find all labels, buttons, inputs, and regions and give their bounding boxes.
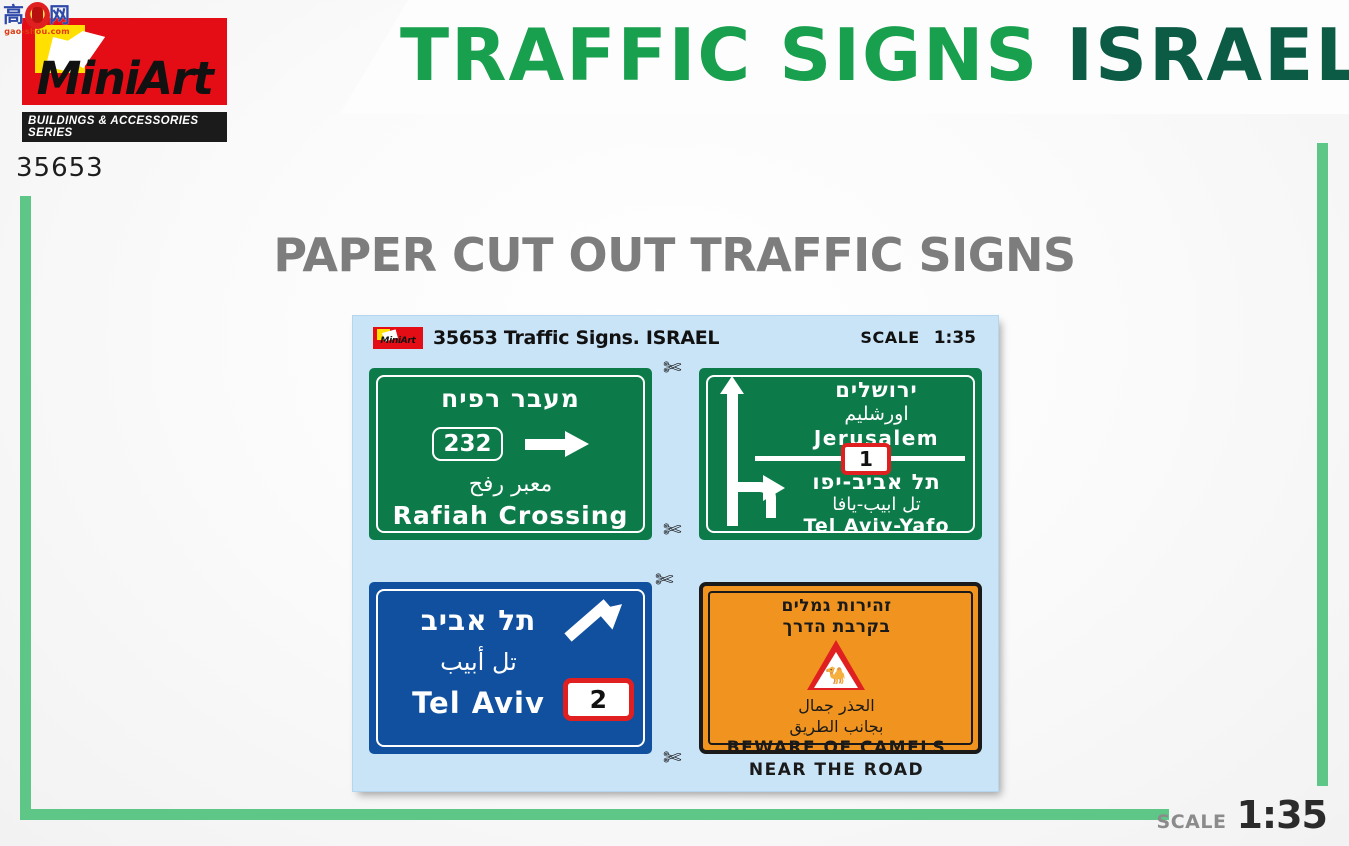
sign-jerusalem-hebrew: ירושלים: [779, 378, 974, 402]
sign-telaviv-english: Tel Aviv: [391, 686, 566, 720]
route-badge-232: 232: [432, 427, 502, 461]
sheet-scale-label: SCALE: [860, 328, 919, 347]
sign-jerusalem-arabic: اورشليم: [779, 403, 974, 425]
scissors-icon-2: ✄: [663, 520, 681, 542]
sign-sheet: MiniArt 35653 Traffic Signs. ISRAEL SCAL…: [352, 315, 999, 792]
bottom-scale-value: 1:35: [1236, 793, 1327, 837]
sheet-title: 35653 Traffic Signs. ISRAEL: [433, 327, 719, 349]
straight-up-arrow-head-icon: [720, 376, 744, 394]
sign-telaviv-hebrew: תל אביב: [391, 604, 566, 637]
sign-telavivyafo-hebrew: תל אביב-יפו: [779, 470, 974, 494]
kit-number: 35653: [16, 153, 104, 183]
sign-cell-jerusalem: ירושלים اورشليم Jerusalem 1 תל אביב-יפו …: [699, 368, 982, 540]
sign-rafiah-arabic: معبر رفح: [369, 472, 652, 497]
sign-telavivyafo-arabic: تل ابيب-يافا: [779, 494, 974, 515]
sign-beware-of-camels[interactable]: זהירות גמלים בקרבת הדרך 🐪 الحذر جمال بجا…: [699, 582, 982, 754]
watermark-char-left: 高: [3, 5, 24, 26]
header-title-signs: SIGNS: [779, 13, 1039, 97]
site-watermark: 高 网 gao-shou.com: [2, 1, 72, 41]
sign-camels-arabic-line2: بجانب الطريق: [703, 717, 970, 736]
sign-cell-telaviv: תל אביב تل أبيب Tel Aviv 2: [369, 582, 652, 754]
page-title: PAPER CUT OUT TRAFFIC SIGNS: [0, 228, 1349, 282]
sign-rafiah-route-row: 232: [369, 421, 652, 467]
camel-warning-triangle-icon: 🐪: [807, 640, 865, 690]
sign-rafiah-english: Rafiah Crossing: [369, 501, 652, 530]
frame-bar-left: [20, 196, 31, 820]
watermark-char-right: 网: [49, 5, 70, 26]
sign-telavivyafo-english: Tel Aviv-Yafo: [779, 515, 974, 537]
scissors-icon-1: ✄: [663, 358, 681, 380]
sheet-miniart-logo: MiniArt: [373, 327, 423, 349]
sign-cell-rafiah: מעבר רפיח 232 معبر رفح Rafiah Crossing: [369, 368, 652, 540]
sign-camels-english-line1: BEWARE OF CAMELS: [703, 738, 970, 758]
sign-tel-aviv[interactable]: תל אביב تل أبيب Tel Aviv 2: [369, 582, 652, 754]
watermark-url: gao-shou.com: [2, 27, 72, 36]
brand-series-label: BUILDINGS & ACCESSORIES SERIES: [22, 112, 227, 142]
scissors-icon-4: ✄: [663, 748, 681, 770]
sheet-scale: SCALE 1:35: [860, 328, 976, 348]
scissors-icon-3: ✄: [655, 570, 673, 592]
sheet-logo-text: MiniArt: [373, 336, 423, 346]
camel-glyph-icon: 🐪: [825, 668, 846, 685]
header-title-traffic: TRAFFIC: [400, 13, 752, 97]
header-banner: TRAFFIC SIGNS ISRAEL: [340, 0, 1349, 114]
bottom-scale-label: SCALE: [1157, 811, 1227, 833]
sheet-header: MiniArt 35653 Traffic Signs. ISRAEL SCAL…: [353, 316, 998, 360]
watermark-seal-icon: [25, 2, 50, 29]
sheet-scale-value: 1:35: [934, 328, 976, 348]
sign-rafiah-hebrew: מעבר רפיח: [369, 384, 652, 413]
brand-name: MiniArt: [22, 56, 227, 101]
sign-camels-arabic-line1: الحذر جمال: [703, 696, 970, 715]
sign-camels-hebrew-line1: זהירות גמלים: [703, 596, 970, 616]
sign-jerusalem-telaviv[interactable]: ירושלים اورشليم Jerusalem 1 תל אביב-יפו …: [699, 368, 982, 540]
frame-bar-bottom: [20, 809, 1169, 820]
sign-camels-hebrew-line2: בקרבת הדרך: [703, 617, 970, 637]
sign-cell-camels: זהירות גמלים בקרבת הדרך 🐪 الحذر جمال بجا…: [699, 582, 982, 754]
route-badge-2: 2: [563, 678, 634, 721]
header-title: TRAFFIC SIGNS ISRAEL: [400, 12, 1339, 98]
header-title-israel: ISRAEL: [1066, 13, 1349, 97]
sign-rafiah-crossing[interactable]: מעבר רפיח 232 معبر رفح Rafiah Crossing: [369, 368, 652, 540]
sign-camels-english-line2: NEAR THE ROAD: [703, 760, 970, 780]
diagonal-up-right-arrow-icon: [564, 604, 624, 660]
sign-grid: מעבר רפיח 232 معبر رفح Rafiah Crossing: [353, 360, 998, 791]
right-arrow-icon: [525, 431, 589, 457]
bottom-scale: SCALE 1:35: [1157, 793, 1327, 837]
poster-page: 高 网 gao-shou.com MiniArt BUILDINGS & ACC…: [0, 0, 1349, 846]
sign-telaviv-arabic: تل أبيب: [391, 648, 566, 676]
